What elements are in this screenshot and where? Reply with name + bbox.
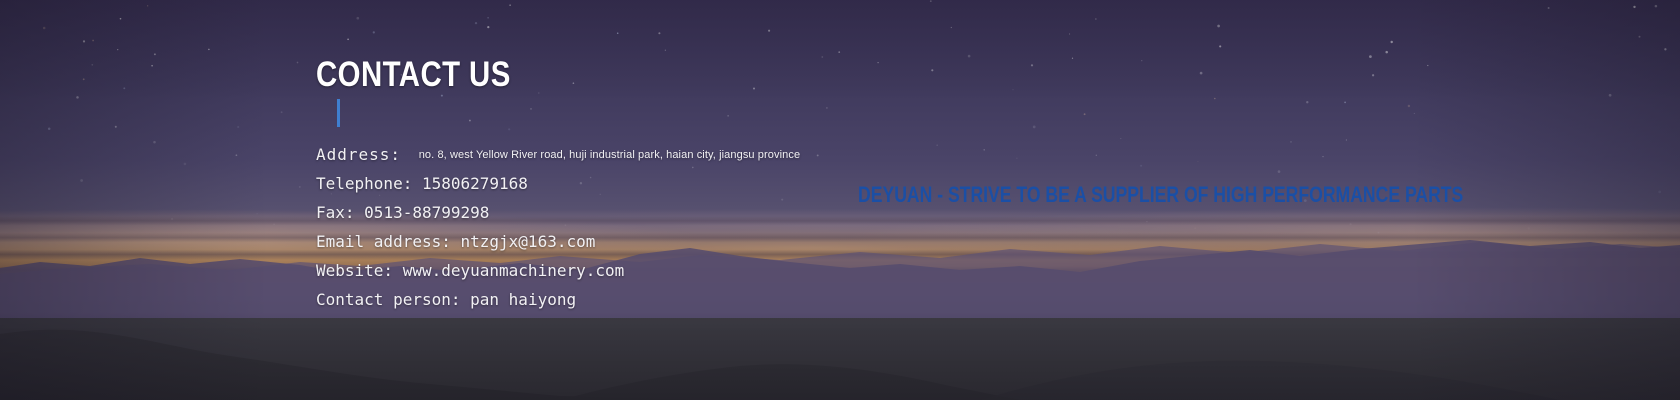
contact-row-address: Address: no. 8, west Yellow River road, … — [316, 140, 800, 169]
contact-label-contact-person: Contact person: — [316, 290, 461, 309]
contact-row-website: Website: www.deyuanmachinery.com — [316, 256, 800, 285]
contact-value-fax: 0513-88799298 — [364, 203, 489, 222]
title-accent-rule — [337, 99, 340, 127]
contact-row-fax: Fax: 0513-88799298 — [316, 198, 800, 227]
contact-label-address: Address: — [316, 145, 401, 164]
contact-value-contact-person: pan haiyong — [470, 290, 576, 309]
contact-value-email[interactable]: ntzgjx@163.com — [461, 232, 596, 251]
company-slogan: DEYUAN - STRIVE TO BE A SUPPLIER OF HIGH… — [858, 184, 1463, 206]
contact-label-telephone: Telephone: — [316, 174, 412, 193]
contact-label-website: Website: — [316, 261, 393, 280]
banner-content: CONTACT US Address: no. 8, west Yellow R… — [316, 0, 1656, 400]
contact-row-email: Email address: ntzgjx@163.com — [316, 227, 800, 256]
contact-us-banner: CONTACT US Address: no. 8, west Yellow R… — [0, 0, 1680, 400]
contact-label-email: Email address: — [316, 232, 451, 251]
contact-value-telephone[interactable]: 15806279168 — [422, 174, 528, 193]
contact-row-contact-person: Contact person: pan haiyong — [316, 285, 800, 314]
contact-label-fax: Fax: — [316, 203, 355, 222]
contact-row-telephone: Telephone: 15806279168 — [316, 169, 800, 198]
contact-value-website[interactable]: www.deyuanmachinery.com — [403, 261, 625, 280]
page-title: CONTACT US — [316, 57, 511, 92]
contact-value-address: no. 8, west Yellow River road, huji indu… — [411, 149, 800, 161]
contact-details-list: Address: no. 8, west Yellow River road, … — [316, 140, 800, 314]
